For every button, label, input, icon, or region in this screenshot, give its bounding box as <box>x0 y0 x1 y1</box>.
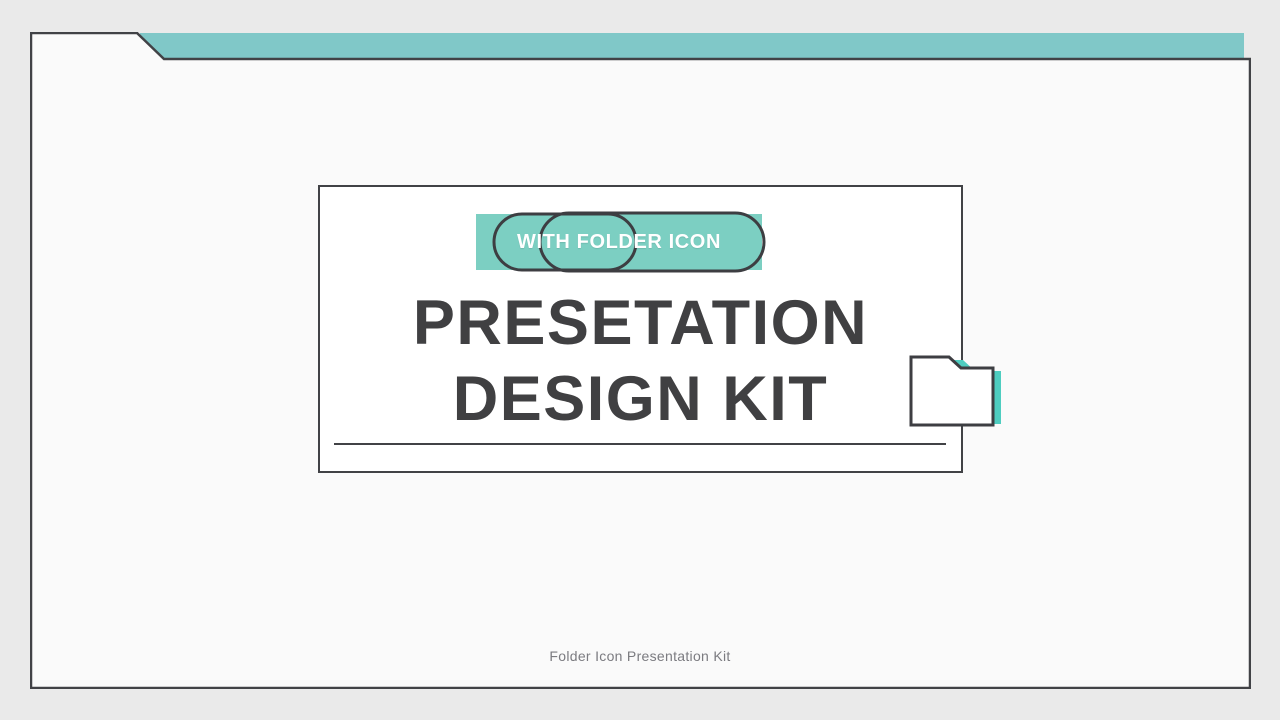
badge-with-folder-icon: WITH FOLDER ICON <box>476 210 766 276</box>
slide-canvas: WITH FOLDER ICON PRESETATION DESIGN KIT … <box>0 0 1280 720</box>
folder-back-band <box>140 33 1244 58</box>
page-title-line-1: PRESETATION <box>318 292 963 355</box>
folder-icon <box>905 352 1005 430</box>
badge-label: WITH FOLDER ICON <box>476 214 762 270</box>
footer-caption: Folder Icon Presentation Kit <box>0 648 1280 664</box>
page-title-line-2: DESIGN KIT <box>318 368 963 431</box>
title-divider <box>334 443 946 445</box>
